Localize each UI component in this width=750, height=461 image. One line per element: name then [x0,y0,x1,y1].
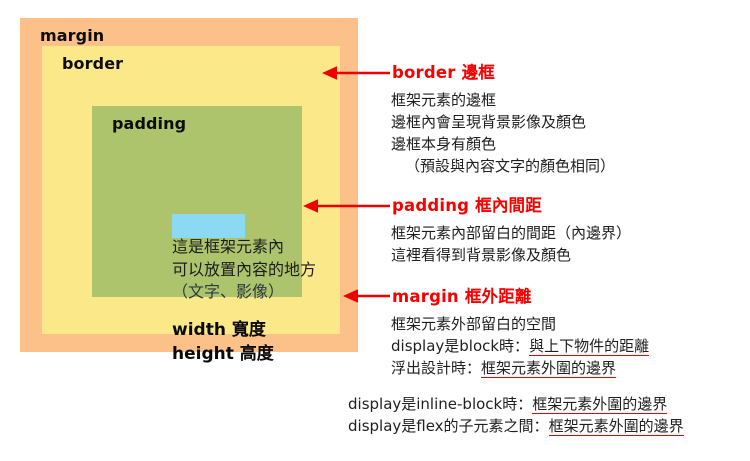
rule-prefix: display是inline-block時： [348,395,532,413]
content-layer: 這是框架元素內 可以放置內容的地方 （文字、影像） width 寬度 heigh… [172,214,245,238]
content-height-label: height 高度 [172,342,245,366]
padding-layer: padding 這是框架元素內 可以放置內容的地方 （文字、影像） width … [92,106,302,297]
content-width-label: width 寬度 [172,318,245,342]
rule-underlined: 與上下物件的距離 [529,337,649,356]
content-line: （文字、影像） [172,281,245,304]
content-spacer [172,304,245,318]
annotation-rule-line: display是block時：與上下物件的距離 [391,335,649,357]
border-layer: border padding 這是框架元素內 可以放置內容的地方 （文字、影像）… [42,46,340,334]
margin-extra-annotation-body: display是inline-block時：框架元素外圍的邊界 display是… [348,393,684,437]
rule-prefix: display是flex的子元素之間： [348,417,549,435]
rule-underlined: 框架元素外圍的邊界 [481,359,616,378]
annotation-line: （預設與內容文字的顏色相同） [391,155,615,177]
annotation-rule-line: display是inline-block時：框架元素外圍的邊界 [348,393,684,415]
annotation-line: 邊框內會呈現背景影像及顏色 [391,111,615,133]
margin-annotation-body: 框架元素外部留白的空間 display是block時：與上下物件的距離 浮出設計… [391,313,649,379]
padding-annotation-body: 框架元素內部留白的間距（內邊界） 這裡看得到背景影像及顏色 [391,222,631,266]
annotation-line: 框架元素的邊框 [391,89,615,111]
rule-underlined: 框架元素外圍的邊界 [549,417,684,436]
annotation-line: 邊框本身有顏色 [391,133,615,155]
annotation-line: 框架元素內部留白的間距（內邊界） [391,222,631,244]
border-layer-label: border [62,54,123,73]
border-annotation-heading: border 邊框 [392,59,495,83]
content-line: 這是框架元素內 [172,236,245,259]
border-annotation-body: 框架元素的邊框 邊框內會呈現背景影像及顏色 邊框本身有顏色 （預設與內容文字的顏… [391,89,615,177]
annotation-line: 框架元素外部留白的空間 [391,313,649,335]
rule-prefix: display是block時： [391,337,529,355]
annotation-rule-line: 浮出設計時：框架元素外圍的邊界 [391,357,649,379]
content-layer-text: 這是框架元素內 可以放置內容的地方 （文字、影像） width 寬度 heigh… [172,236,245,366]
annotation-line: 這裡看得到背景影像及顏色 [391,244,631,266]
rule-underlined: 框架元素外圍的邊界 [532,395,667,414]
padding-annotation-heading: padding 框內間距 [392,192,542,216]
content-line: 可以放置內容的地方 [172,259,245,282]
margin-annotation-heading: margin 框外距離 [392,283,532,307]
annotation-rule-line: display是flex的子元素之間：框架元素外圍的邊界 [348,415,684,437]
margin-layer-label: margin [40,26,104,45]
rule-prefix: 浮出設計時： [391,359,481,377]
padding-layer-label: padding [112,114,186,133]
box-model-diagram: margin border padding 這是框架元素內 可以放置內容的地方 … [20,18,358,352]
margin-layer: margin border padding 這是框架元素內 可以放置內容的地方 … [20,18,358,352]
